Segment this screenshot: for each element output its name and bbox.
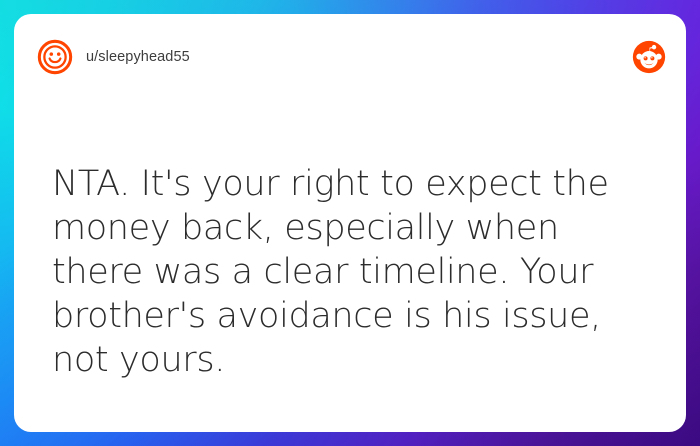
screenshot-stage: u/sleepyhead55: [0, 0, 700, 446]
comment-card: u/sleepyhead55: [14, 14, 686, 432]
reddit-snoo-logo-icon[interactable]: [632, 40, 666, 74]
card-header: u/sleepyhead55: [14, 14, 686, 100]
smiley-face-avatar-icon: [36, 38, 74, 76]
card-body: NTA. It's your right to expect the money…: [52, 162, 646, 382]
comment-quote-text: NTA. It's your right to expect the money…: [52, 162, 646, 382]
author-block[interactable]: u/sleepyhead55: [36, 38, 190, 76]
author-username: u/sleepyhead55: [86, 49, 190, 65]
